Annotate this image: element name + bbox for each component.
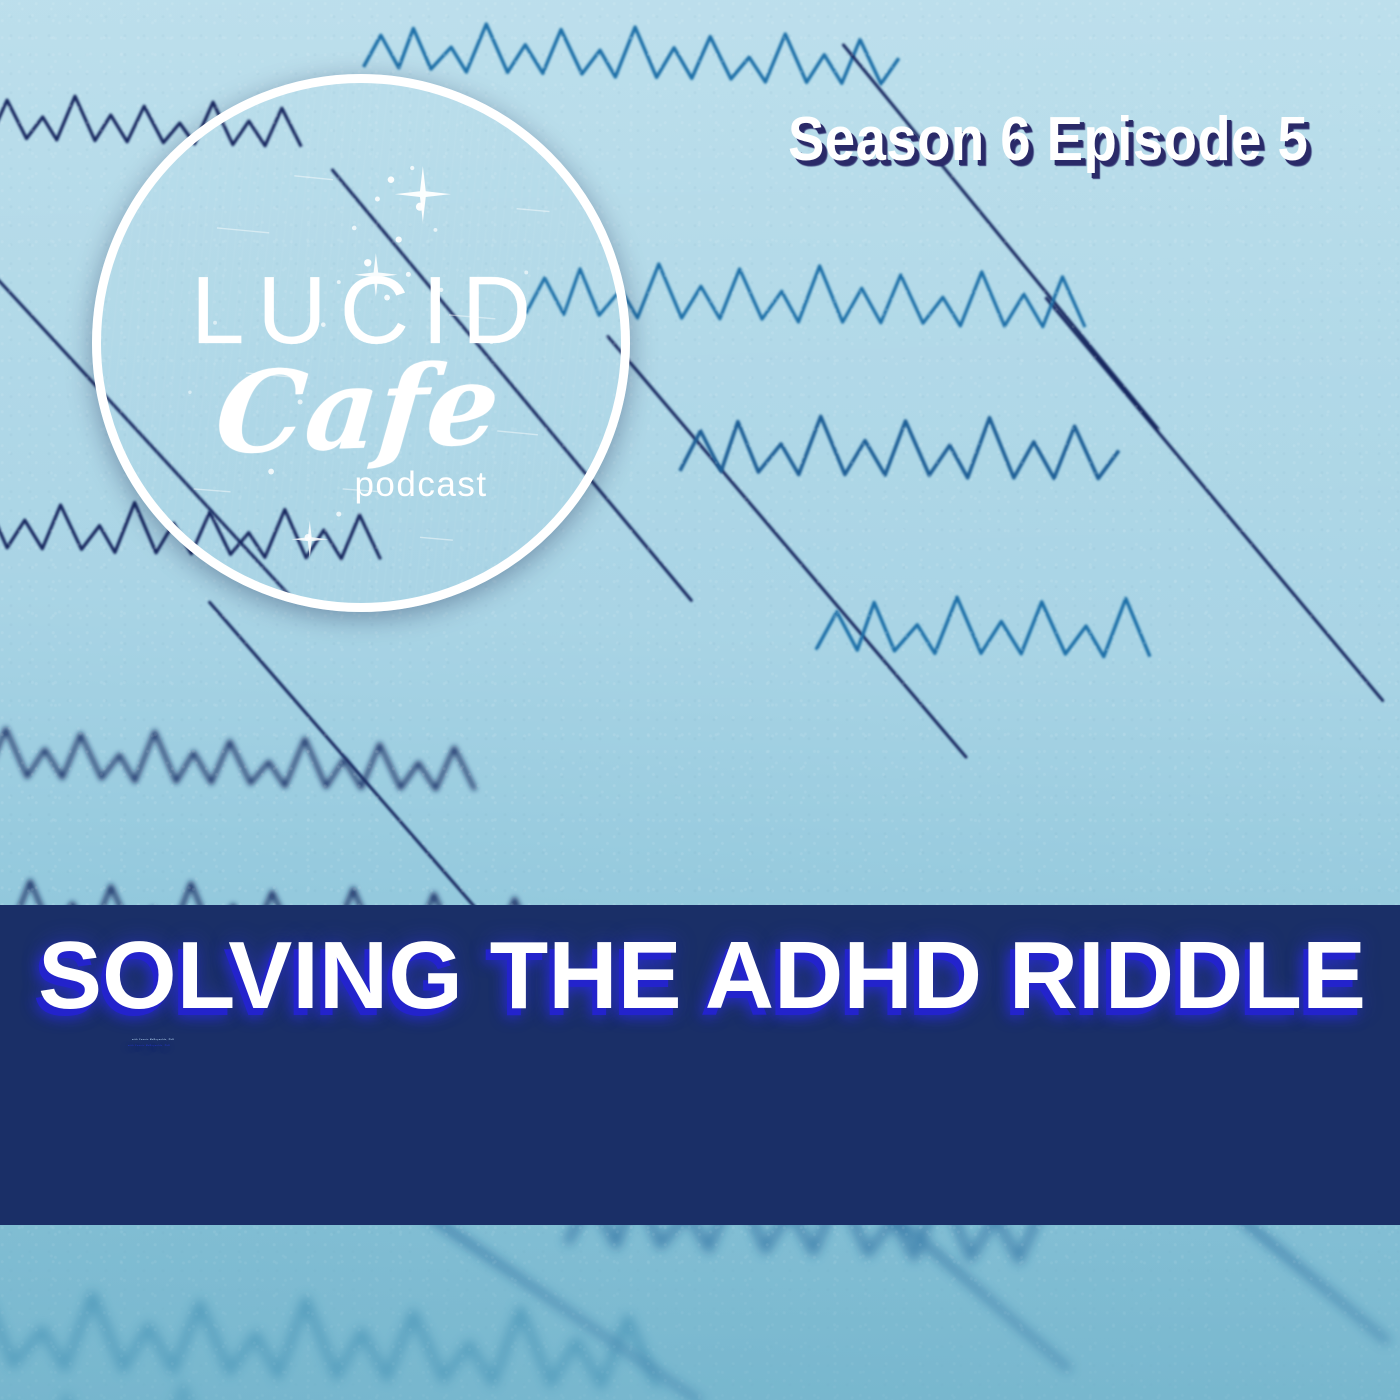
episode-guest-credit: with Connie McReynolds, PhD (38, 1039, 1366, 1041)
logo-brand-cafe: Cafe (213, 357, 504, 463)
season-episode-label: Season 6 Episode 5 (788, 104, 1308, 175)
lucid-cafe-logo-badge[interactable]: LUCID Cafe podcast (92, 74, 630, 612)
logo-wordmark: LUCID Cafe podcast (101, 83, 621, 603)
episode-title-band: SOLVING THE ADHD RIDDLE with Connie McRe… (0, 905, 1400, 1225)
episode-title: SOLVING THE ADHD RIDDLE (38, 927, 1366, 1025)
podcast-cover-art: LUCID Cafe podcast Season 6 Episode 5 SO… (0, 0, 1400, 1400)
